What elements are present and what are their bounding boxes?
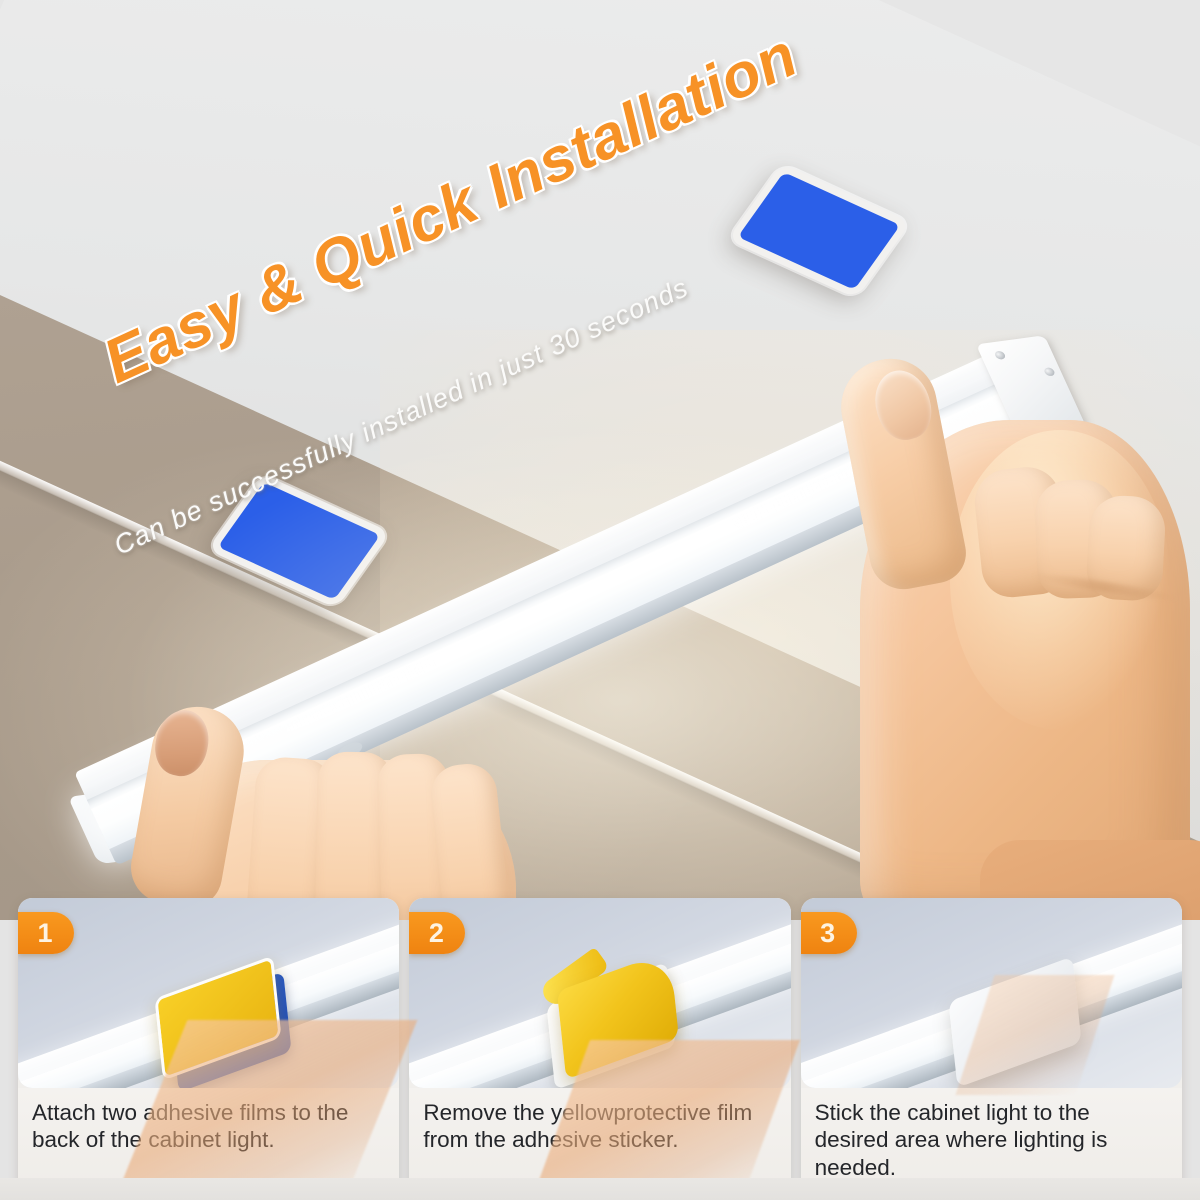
step-card-2[interactable]: 2 Remove the yellowprotective film from … (409, 898, 790, 1200)
step-2-number-badge: 2 (409, 912, 465, 954)
step-card-1[interactable]: 1 Attach two adhesive films to the back … (18, 898, 399, 1200)
product-infographic: Easy & Quick Installation Can be success… (0, 0, 1200, 1200)
step-2-image: 2 (409, 898, 790, 1088)
step-3-exposed-adhesive-pad (949, 956, 1082, 1087)
edge-anchor (0, 330, 1, 331)
step-1-image: 1 (18, 898, 399, 1088)
step-card-3[interactable]: 3 Stick the cabinet light to the desired… (801, 898, 1182, 1200)
step-3-number-badge: 3 (801, 912, 857, 954)
step-3-image: 3 (801, 898, 1182, 1088)
bottom-strip-base (0, 1178, 1200, 1200)
step-1-number-badge: 1 (18, 912, 74, 954)
left-hand (120, 690, 580, 920)
right-hand (830, 300, 1200, 920)
hero-installation-scene: Easy & Quick Installation Can be success… (0, 0, 1200, 920)
installation-steps: 1 Attach two adhesive films to the back … (0, 898, 1200, 1200)
left-hand-finger-pinky (428, 761, 514, 920)
